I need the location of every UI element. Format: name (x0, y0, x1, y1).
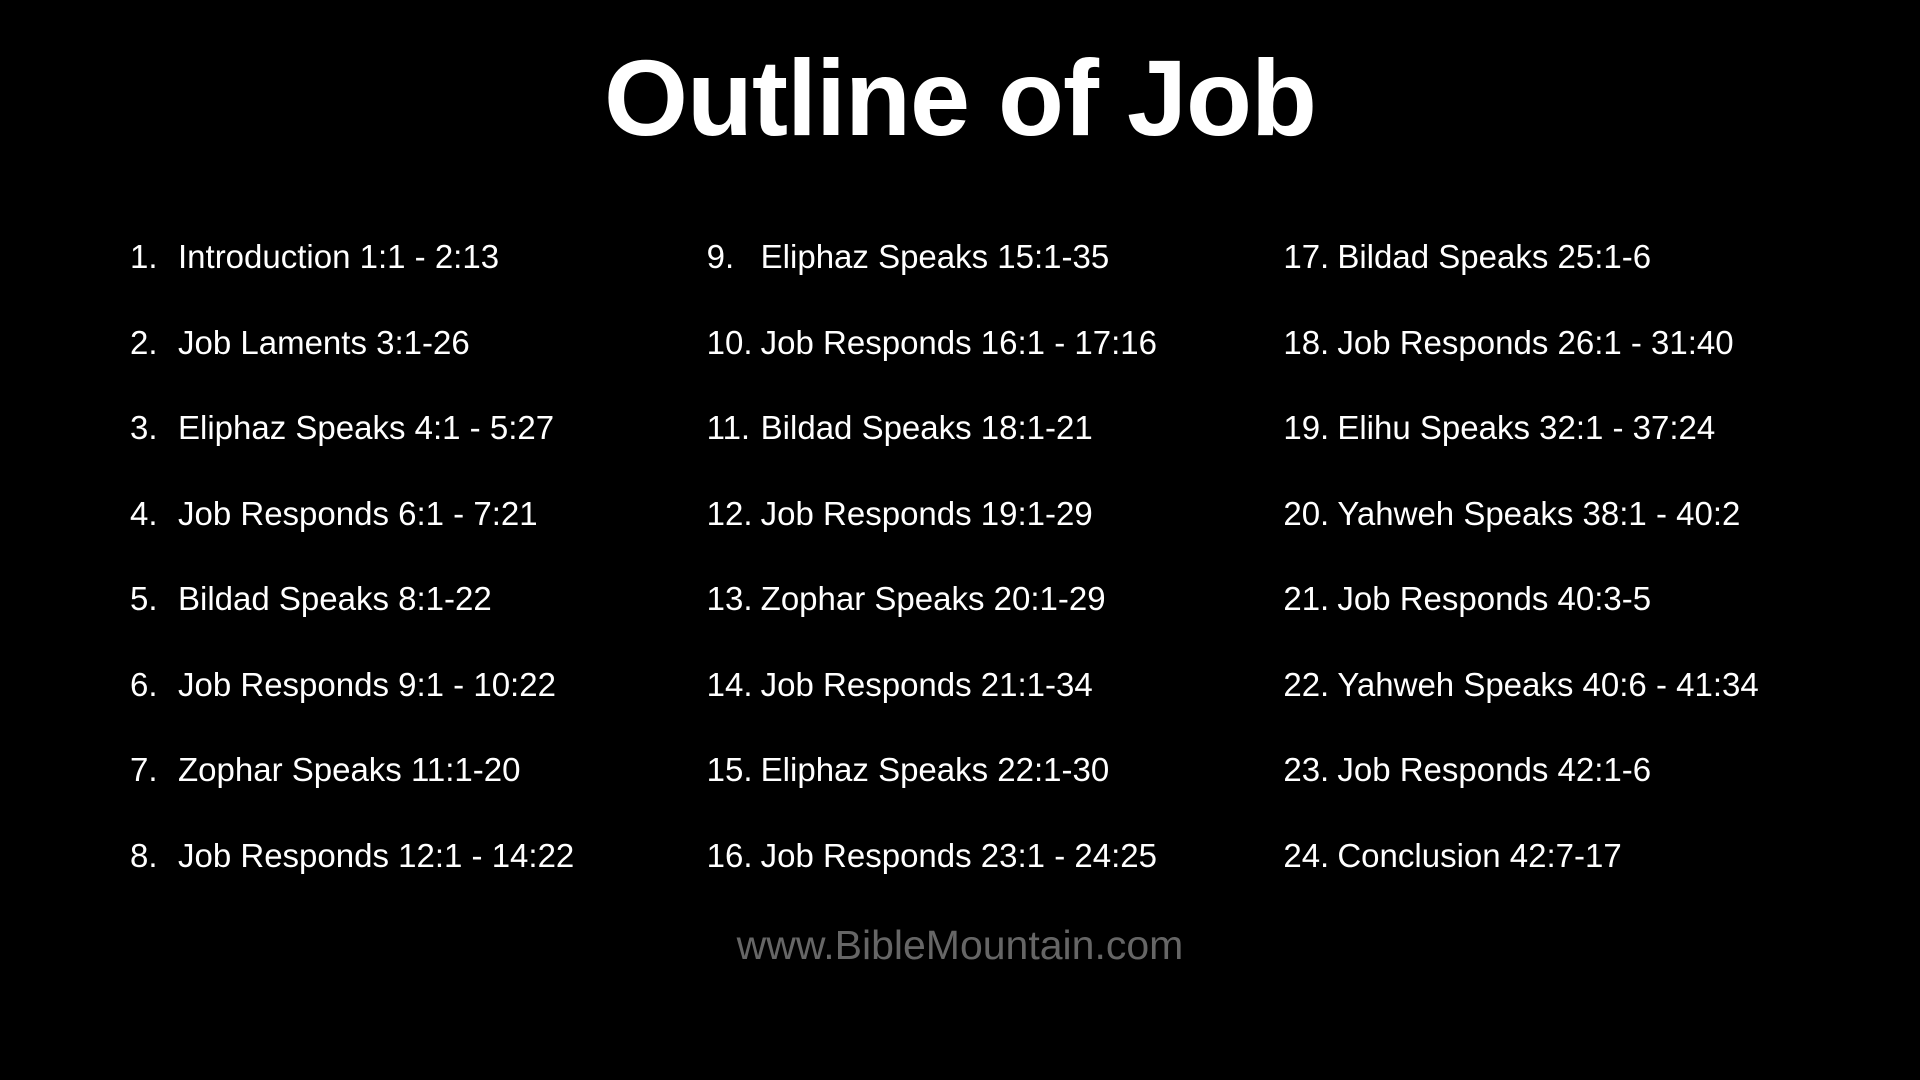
list-item: 2. Job Laments 3:1-26 (130, 326, 707, 412)
outline-column-2: 9. Eliphaz Speaks 15:1-35 10. Job Respon… (707, 240, 1284, 924)
list-item-label: Zophar Speaks 20:1-29 (761, 582, 1106, 615)
list-item-number: 11. (707, 411, 761, 444)
list-item-number: 9. (707, 240, 761, 273)
list-item-number: 21. (1283, 582, 1337, 615)
list-item-label: Zophar Speaks 11:1-20 (178, 753, 520, 786)
list-item-number: 2. (130, 326, 178, 359)
list-item: 9. Eliphaz Speaks 15:1-35 (707, 240, 1284, 326)
list-item-number: 12. (707, 497, 761, 530)
list-item: 17. Bildad Speaks 25:1-6 (1283, 240, 1860, 326)
list-item-label: Conclusion 42:7-17 (1337, 839, 1621, 872)
list-item: 11. Bildad Speaks 18:1-21 (707, 411, 1284, 497)
list-item-number: 13. (707, 582, 761, 615)
list-item-label: Job Responds 42:1-6 (1337, 753, 1651, 786)
list-item-number: 10. (707, 326, 761, 359)
list-item: 24. Conclusion 42:7-17 (1283, 839, 1860, 925)
list-item-number: 5. (130, 582, 178, 615)
list-item: 12. Job Responds 19:1-29 (707, 497, 1284, 583)
list-item: 21. Job Responds 40:3-5 (1283, 582, 1860, 668)
list-item-label: Yahweh Speaks 40:6 - 41:34 (1337, 668, 1758, 701)
list-item: 22. Yahweh Speaks 40:6 - 41:34 (1283, 668, 1860, 754)
list-item: 16. Job Responds 23:1 - 24:25 (707, 839, 1284, 925)
list-item-number: 4. (130, 497, 178, 530)
list-item-label: Job Responds 9:1 - 10:22 (178, 668, 556, 701)
list-item-label: Job Laments 3:1-26 (178, 326, 470, 359)
list-item: 19. Elihu Speaks 32:1 - 37:24 (1283, 411, 1860, 497)
list-item-label: Eliphaz Speaks 15:1-35 (761, 240, 1110, 273)
list-item-number: 24. (1283, 839, 1337, 872)
page-title: Outline of Job (0, 38, 1920, 159)
list-item: 20. Yahweh Speaks 38:1 - 40:2 (1283, 497, 1860, 583)
list-item-number: 16. (707, 839, 761, 872)
list-item-label: Bildad Speaks 25:1-6 (1337, 240, 1651, 273)
list-item-number: 19. (1283, 411, 1337, 444)
watermark-url: www.BibleMountain.com (0, 925, 1920, 966)
list-item-label: Bildad Speaks 8:1-22 (178, 582, 492, 615)
list-item: 23. Job Responds 42:1-6 (1283, 753, 1860, 839)
outline-column-1: 1. Introduction 1:1 - 2:13 2. Job Lament… (100, 240, 707, 924)
list-item-label: Job Responds 12:1 - 14:22 (178, 839, 574, 872)
list-item-label: Job Responds 21:1-34 (761, 668, 1093, 701)
list-item-label: Job Responds 26:1 - 31:40 (1337, 326, 1733, 359)
list-item-label: Yahweh Speaks 38:1 - 40:2 (1337, 497, 1740, 530)
list-item: 18. Job Responds 26:1 - 31:40 (1283, 326, 1860, 412)
list-item-label: Eliphaz Speaks 22:1-30 (761, 753, 1110, 786)
list-item-label: Eliphaz Speaks 4:1 - 5:27 (178, 411, 554, 444)
list-item-number: 20. (1283, 497, 1337, 530)
presentation-slide: Outline of Job 1. Introduction 1:1 - 2:1… (0, 0, 1920, 1080)
list-item-label: Job Responds 16:1 - 17:16 (761, 326, 1157, 359)
list-item: 10. Job Responds 16:1 - 17:16 (707, 326, 1284, 412)
list-item: 6. Job Responds 9:1 - 10:22 (130, 668, 707, 754)
list-item-number: 18. (1283, 326, 1337, 359)
list-item-number: 6. (130, 668, 178, 701)
list-item-label: Job Responds 23:1 - 24:25 (761, 839, 1157, 872)
list-item-label: Job Responds 40:3-5 (1337, 582, 1651, 615)
list-item: 15. Eliphaz Speaks 22:1-30 (707, 753, 1284, 839)
list-item-number: 7. (130, 753, 178, 786)
list-item: 14. Job Responds 21:1-34 (707, 668, 1284, 754)
list-item: 4. Job Responds 6:1 - 7:21 (130, 497, 707, 583)
outline-list: 1. Introduction 1:1 - 2:13 2. Job Lament… (100, 240, 1860, 924)
list-item: 7. Zophar Speaks 11:1-20 (130, 753, 707, 839)
list-item-number: 14. (707, 668, 761, 701)
list-item: 8. Job Responds 12:1 - 14:22 (130, 839, 707, 925)
list-item: 5. Bildad Speaks 8:1-22 (130, 582, 707, 668)
list-item: 3. Eliphaz Speaks 4:1 - 5:27 (130, 411, 707, 497)
list-item-number: 23. (1283, 753, 1337, 786)
list-item-label: Job Responds 6:1 - 7:21 (178, 497, 538, 530)
list-item-label: Introduction 1:1 - 2:13 (178, 240, 499, 273)
list-item-number: 3. (130, 411, 178, 444)
outline-column-3: 17. Bildad Speaks 25:1-6 18. Job Respond… (1283, 240, 1860, 924)
list-item-number: 15. (707, 753, 761, 786)
list-item-number: 22. (1283, 668, 1337, 701)
list-item-label: Job Responds 19:1-29 (761, 497, 1093, 530)
list-item: 1. Introduction 1:1 - 2:13 (130, 240, 707, 326)
list-item-number: 1. (130, 240, 178, 273)
list-item-label: Elihu Speaks 32:1 - 37:24 (1337, 411, 1715, 444)
list-item-number: 8. (130, 839, 178, 872)
list-item-number: 17. (1283, 240, 1337, 273)
list-item: 13. Zophar Speaks 20:1-29 (707, 582, 1284, 668)
list-item-label: Bildad Speaks 18:1-21 (761, 411, 1093, 444)
